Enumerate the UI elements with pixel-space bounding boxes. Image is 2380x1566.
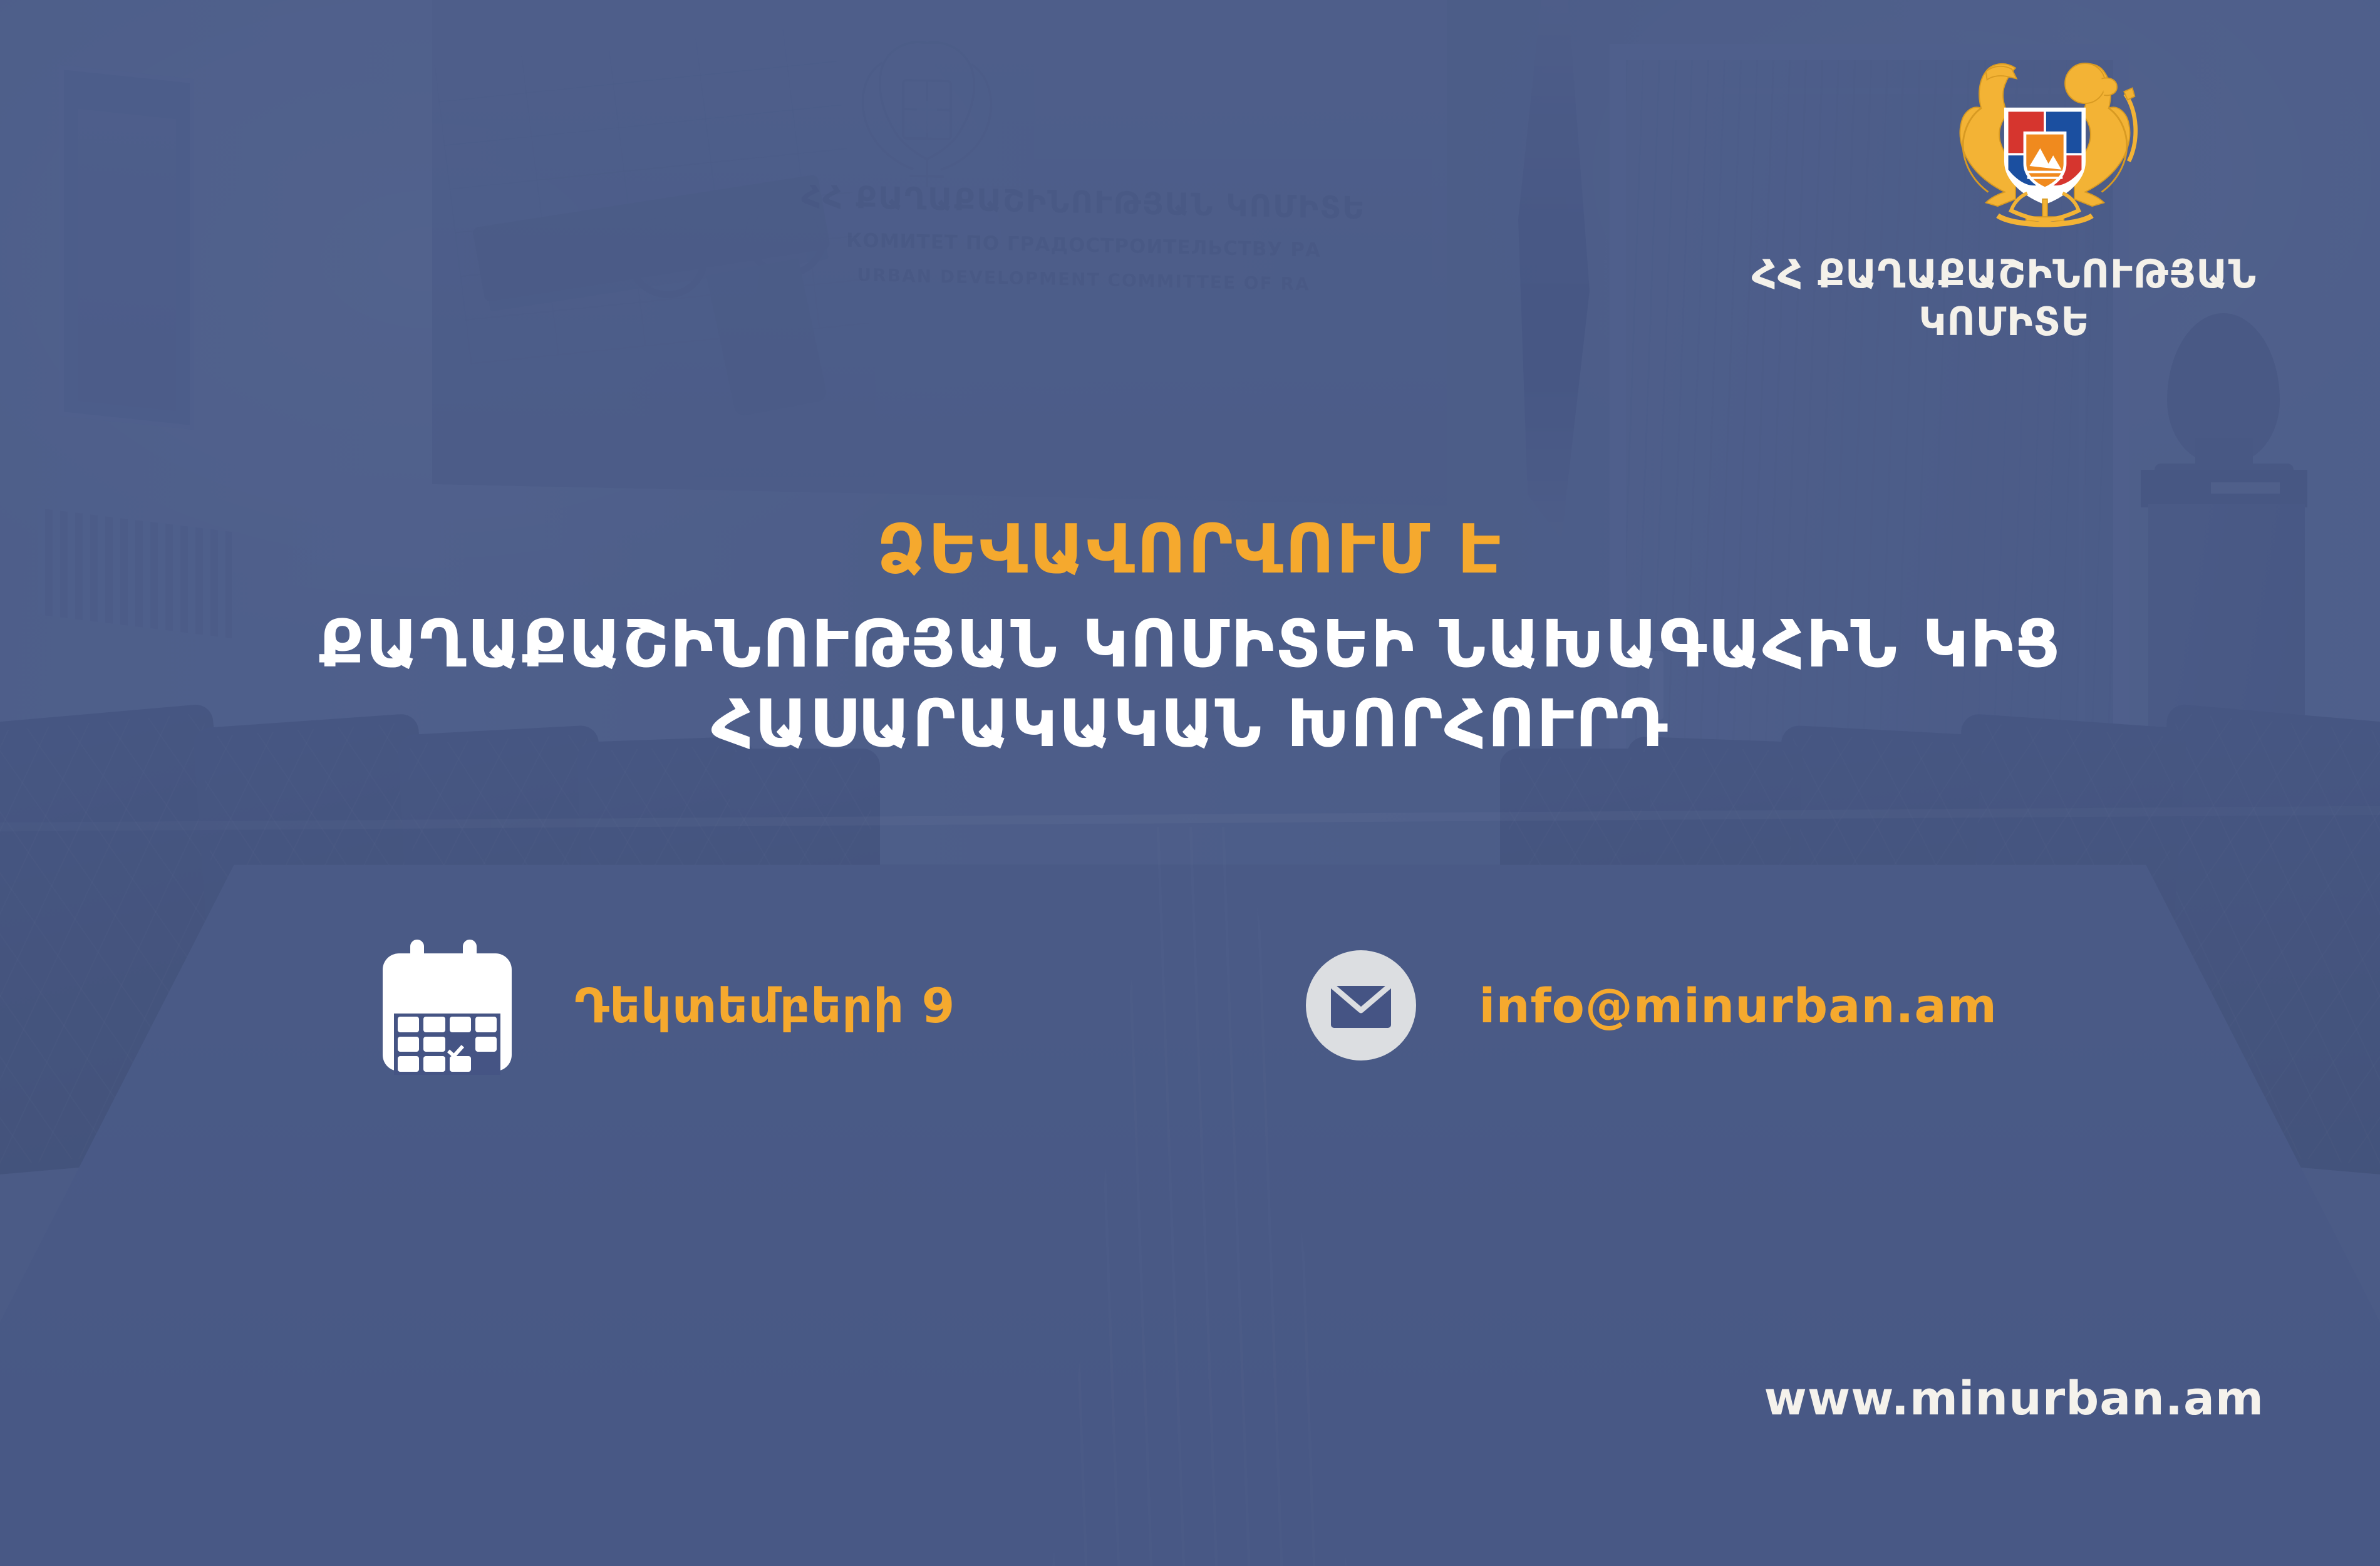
headline-lead: ՁԵՎԱՎՈՐՎՈՒՄ Է [0,514,2380,587]
calendar-check-icon [383,940,512,1071]
website-url[interactable]: www.minurban.am [1764,1372,2264,1426]
email-item: info@minurban.am [1306,950,1997,1060]
contact-email[interactable]: info@minurban.am [1479,978,1997,1034]
organization-title: ՀՀ ՔԱՂԱՔԱՇԻՆՈՒԹՅԱՆ ԿՈՄԻՏԵ [1653,251,2355,345]
org-title-line2: ԿՈՄԻՏԵ [1653,298,2355,346]
headline-block: ՁԵՎԱՎՈՐՎՈՒՄ Է ՔԱՂԱՔԱՇԻՆՈՒԹՅԱՆ ԿՈՄԻՏԵԻ ՆԱ… [0,514,2380,763]
armenian-coat-of-arms-icon [1926,22,2164,229]
date-item: Դեկտեմբերի 9 [383,940,955,1071]
envelope-icon [1306,950,1416,1060]
event-date: Դեկտեմբերի 9 [574,978,955,1034]
headline-line-3: ՀԱՍԱՐԱԿԱԿԱՆ ԽՈՐՀՈՒՐԴ [0,684,2380,764]
announcement-banner: ՀՀ ՔԱՂԱՔԱՇԻՆՈՒԹՅԱՆ ԿՈՄԻՏԵ КОМИТЕТ ПО ГРА… [0,0,2380,1566]
meta-row: Դեկտեմբերի 9 info@minurban.am [0,940,2380,1071]
headline-line-2: ՔԱՂԱՔԱՇԻՆՈՒԹՅԱՆ ԿՈՄԻՏԵԻ ՆԱԽԱԳԱՀԻՆ ԿԻՑ [0,604,2380,684]
org-title-line1: ՀՀ ՔԱՂԱՔԱՇԻՆՈՒԹՅԱՆ [1653,251,2355,298]
